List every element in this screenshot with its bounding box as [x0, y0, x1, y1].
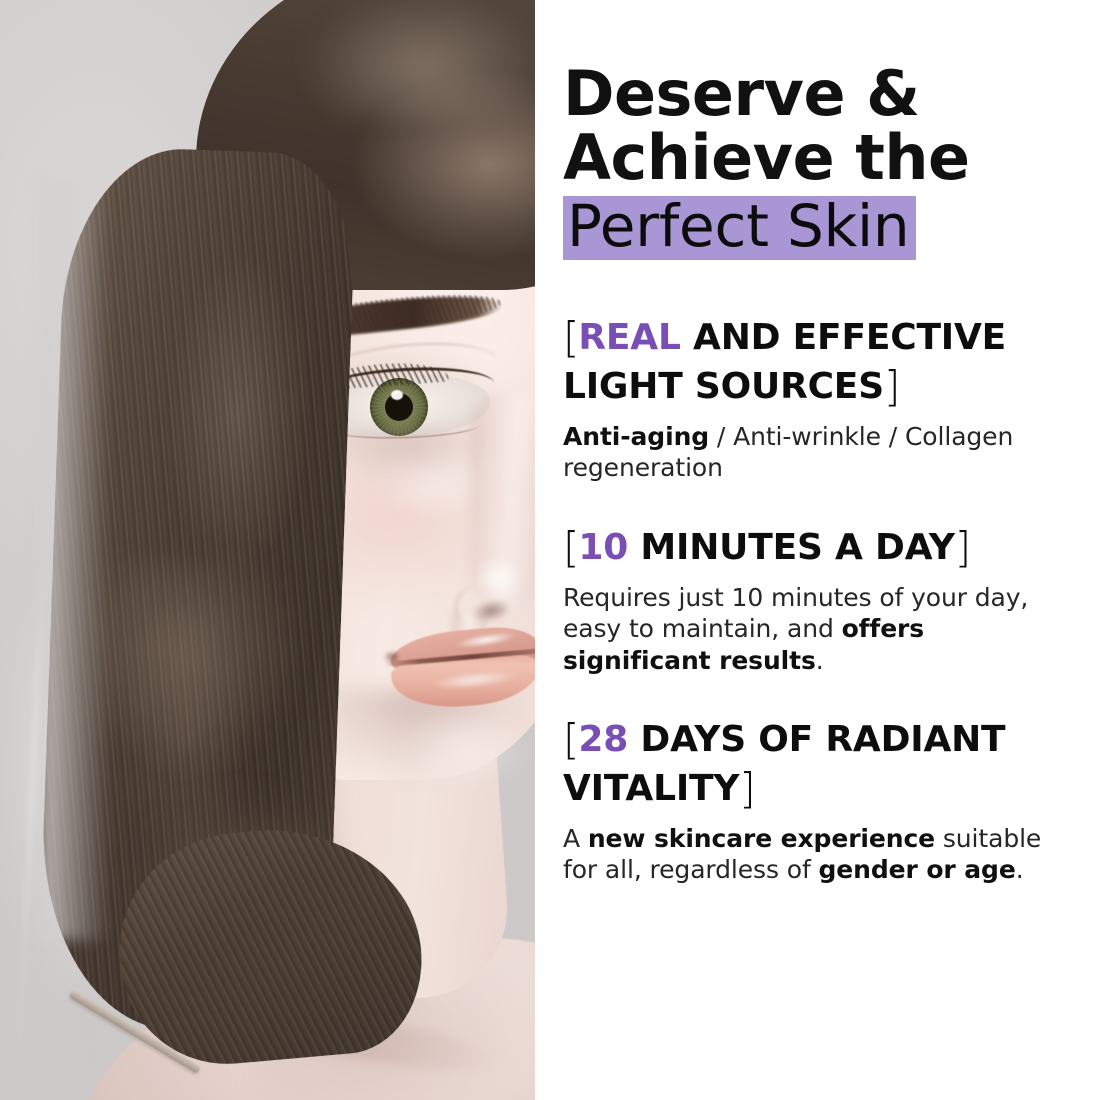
headline-highlighted-phrase: Perfect Skin — [563, 196, 916, 261]
feature-1-bracket-open: [ — [563, 313, 578, 362]
feature-3-bracket-open: [ — [563, 715, 578, 764]
feature-2-bracket-close: ] — [955, 523, 970, 572]
hair-edge-blend — [40, 180, 110, 940]
feature-ten-minutes-a-day: [10 MINUTES A DAY] Requires just 10 minu… — [563, 524, 1061, 676]
feature-twenty-eight-days: [28 DAYS OF RADIANT VITALITY] A new skin… — [563, 716, 1061, 885]
skincare-promo-poster: Deserve & Achieve the Perfect Skin [REAL… — [0, 0, 1101, 1100]
lip-corner — [383, 650, 399, 664]
feature-3-body-bold-1: new skincare experience — [588, 824, 935, 853]
feature-1-bracket-close: ] — [884, 362, 899, 411]
feature-3-body: A new skincare experience suitable for a… — [563, 823, 1061, 886]
headline: Deserve & Achieve the Perfect Skin — [563, 62, 1061, 260]
feature-3-body-bold-2: gender or age — [819, 855, 1016, 884]
feature-1-body: Anti-aging / Anti-wrinkle / Collagen reg… — [563, 421, 1061, 484]
feature-2-bracket-open: [ — [563, 523, 578, 572]
feature-1-heading: [REAL AND EFFECTIVE LIGHT SOURCES] — [563, 314, 1061, 411]
feature-3-heading-rest: DAYS OF RADIANT VITALITY — [563, 719, 1005, 809]
feature-3-accent-number: 28 — [578, 719, 628, 760]
feature-1-body-bold: Anti-aging — [563, 422, 709, 451]
portrait-composition — [0, 0, 535, 1100]
chin-highlight — [400, 720, 530, 790]
feature-3-heading: [28 DAYS OF RADIANT VITALITY] — [563, 716, 1061, 813]
feature-2-body-part-3: . — [816, 646, 824, 675]
feature-2-heading-rest: MINUTES A DAY — [628, 527, 955, 568]
feature-1-accent-word: REAL — [578, 317, 680, 358]
feature-real-light-sources: [REAL AND EFFECTIVE LIGHT SOURCES] Anti-… — [563, 314, 1061, 483]
feature-3-body-part-1: A — [563, 824, 588, 853]
feature-2-accent-number: 10 — [578, 527, 628, 568]
hair-crown-sheen — [300, 0, 535, 120]
feature-3-bracket-close: ] — [739, 764, 754, 813]
feature-2-body: Requires just 10 minutes of your day, ea… — [563, 582, 1061, 677]
feature-2-body-part-1: Requires just 10 minutes of your day, ea… — [563, 583, 1028, 644]
marketing-copy-panel: Deserve & Achieve the Perfect Skin [REAL… — [535, 0, 1101, 1100]
headline-line-1: Deserve & — [563, 62, 1061, 126]
model-portrait-photo — [0, 0, 535, 1100]
feature-2-heading: [10 MINUTES A DAY] — [563, 524, 1061, 573]
headline-line-2: Achieve the — [563, 126, 1061, 190]
feature-3-body-part-5: . — [1016, 855, 1024, 884]
